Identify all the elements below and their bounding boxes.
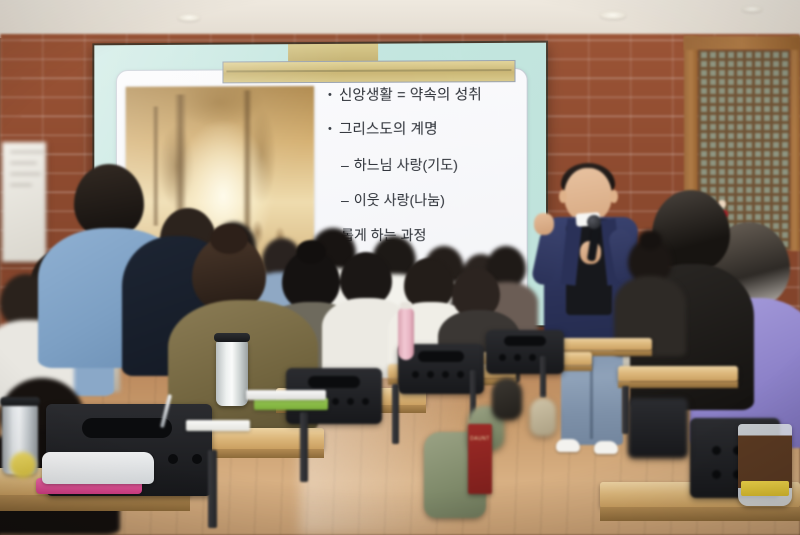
slide-bullet-1-text: 신앙생활 = 약속의 성취 [339, 87, 482, 104]
speaker-hand-left [534, 213, 554, 235]
tumbler-lid [214, 333, 250, 342]
tote-label-text: DAUNT [470, 436, 490, 443]
handbag-dark [492, 378, 522, 420]
desk-leg [622, 386, 629, 434]
wood-post [790, 36, 800, 251]
white-tumbler [216, 340, 248, 406]
speaker-ear [559, 190, 567, 203]
slide-subbullet-1: –하느님 사랑(기도) [341, 155, 532, 175]
iced-coffee-cup [738, 424, 792, 506]
slide-subbullet-2-text: 이웃 사랑(나눔) [354, 192, 445, 208]
desk-leg [392, 384, 399, 444]
speaker-shoe-right [594, 441, 618, 454]
slide-bullet-2-text: 그리스도의 계명 [339, 121, 438, 138]
red-tote-bag: DAUNT [468, 424, 492, 494]
slide-subbullet-2: –이웃 사랑(나눔) [341, 190, 532, 210]
bottle-cap [400, 302, 412, 309]
bullet-marker-icon: • [328, 122, 332, 139]
ceiling-light-icon [742, 6, 762, 12]
microphone-head-icon [587, 215, 601, 229]
notebook-white [246, 390, 326, 400]
lecture-hall-photo: • 신앙생활 = 약속의 성취 • 그리스도의 계명 –하느님 사랑(기도) –… [0, 0, 800, 535]
bullet-marker-icon: • [328, 88, 332, 105]
desk-edge [0, 495, 190, 511]
slide-bullet-1: • 신앙생활 = 약속의 성취 [328, 87, 532, 105]
notebook-pad [186, 420, 250, 431]
pink-water-bottle [398, 308, 414, 360]
chair-back-right [628, 398, 688, 458]
speaker-ear [610, 190, 618, 203]
wood-lintel [684, 36, 800, 50]
slide-bullet-2: • 그리스도의 계명 [328, 121, 532, 138]
wall-poster-board [2, 142, 46, 262]
desk-leg [300, 412, 308, 482]
desk-surface [618, 366, 738, 382]
round-fruit [10, 452, 36, 478]
ceiling-light-icon [178, 14, 200, 21]
desk-leg [540, 356, 546, 398]
ceiling [0, 0, 800, 38]
chair-back [486, 330, 564, 374]
slide-accent-bar-main [222, 60, 515, 83]
white-bag [42, 452, 154, 484]
speaker-shoe-left [556, 439, 580, 452]
tumbler-lid [0, 397, 40, 406]
ceiling-light-icon [600, 11, 626, 19]
dash-marker-icon: – [341, 157, 349, 173]
slide-subbullet-1-text: 하느님 사랑(기도) [354, 157, 458, 173]
slide-obscured-line: 롭게 하는 과정 [341, 225, 532, 246]
dash-marker-icon: – [341, 192, 349, 208]
desk-leg [208, 450, 217, 528]
desk-edge [618, 381, 738, 388]
desk-edge [600, 507, 800, 521]
handbag-beige [530, 398, 556, 436]
cup-label [741, 481, 789, 496]
slide-text-block: • 신앙생활 = 약속의 성취 • 그리스도의 계명 –하느님 사랑(기도) –… [328, 87, 532, 246]
